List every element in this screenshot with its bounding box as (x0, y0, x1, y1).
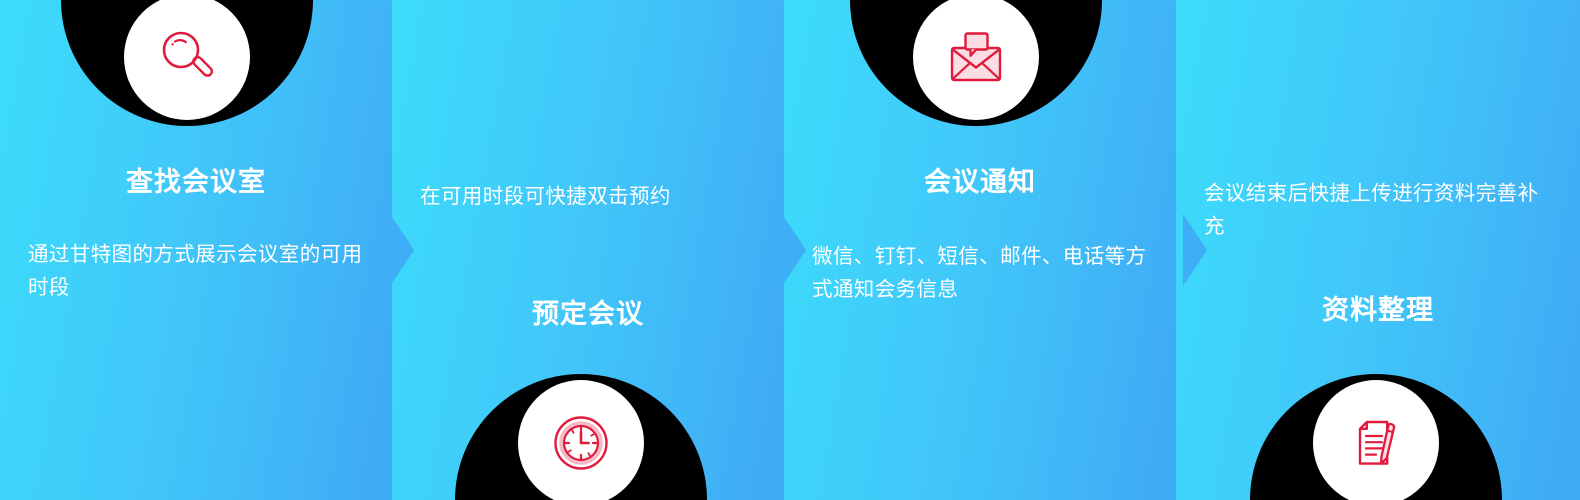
clock-icon (548, 410, 614, 476)
step-title-block-2: 预定会议 (392, 297, 784, 332)
step-title-block-3: 会议通知 (784, 165, 1176, 200)
magnifier-icon (154, 24, 220, 90)
step-title-2: 预定会议 (420, 297, 756, 332)
process-flow-banner: 查找会议室 通过甘特图的方式展示会议室的可用时段 在可用时段可快捷双击预约 (0, 0, 1580, 500)
document-pen-icon (1343, 410, 1409, 476)
envelope-message-icon (943, 24, 1009, 90)
step-title-4: 资料整理 (1204, 293, 1552, 328)
icon-medallion-4 (1313, 380, 1439, 500)
step-panel-3[interactable]: 会议通知 微信、钉钉、短信、邮件、电话等方式通知会务信息 (784, 0, 1176, 500)
step-description-3: 微信、钉钉、短信、邮件、电话等方式通知会务信息 (812, 240, 1148, 306)
step-desc-block-4: 会议结束后快捷上传进行资料完善补充 (1176, 177, 1580, 243)
step-description-2: 在可用时段可快捷双击预约 (420, 180, 756, 213)
step-panel-4[interactable]: 会议结束后快捷上传进行资料完善补充 资料整理 (1176, 0, 1580, 500)
step-panel-2[interactable]: 在可用时段可快捷双击预约 预定会议 (392, 0, 784, 500)
step-title-block-4: 资料整理 (1176, 293, 1580, 328)
step-title-1: 查找会议室 (28, 165, 364, 200)
icon-medallion-2 (518, 380, 644, 500)
step-desc-block-2: 在可用时段可快捷双击预约 (392, 180, 784, 213)
step-desc-block-3: 微信、钉钉、短信、邮件、电话等方式通知会务信息 (784, 240, 1176, 306)
step-title-3: 会议通知 (812, 165, 1148, 200)
step-desc-block-1: 通过甘特图的方式展示会议室的可用时段 (0, 238, 392, 304)
step-description-4: 会议结束后快捷上传进行资料完善补充 (1204, 177, 1552, 243)
step-description-1: 通过甘特图的方式展示会议室的可用时段 (28, 238, 364, 304)
step-title-block-1: 查找会议室 (0, 165, 392, 200)
step-panel-1[interactable]: 查找会议室 通过甘特图的方式展示会议室的可用时段 (0, 0, 392, 500)
